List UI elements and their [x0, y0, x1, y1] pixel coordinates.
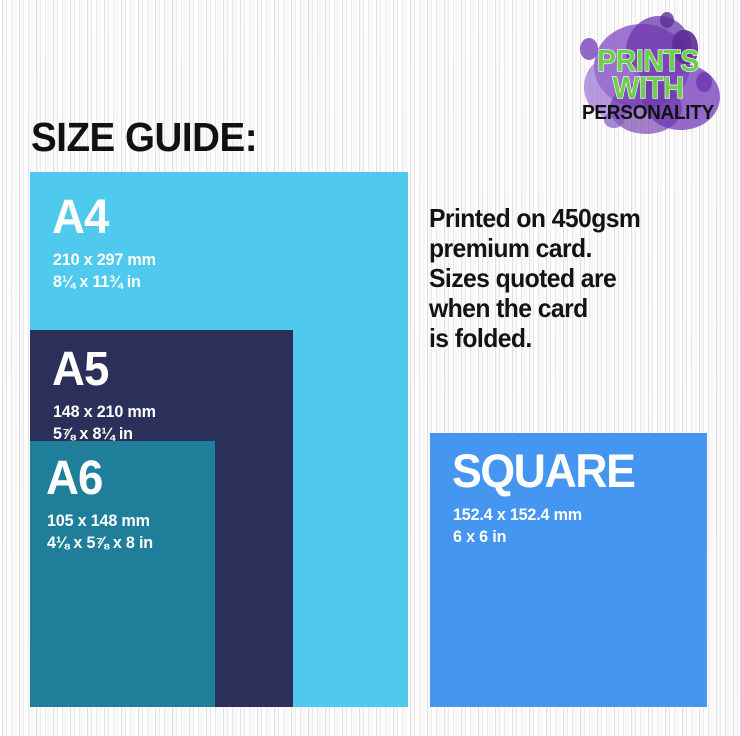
- size-card-a6-mm: 105 x 148 mm: [47, 510, 150, 532]
- size-card-a4-name: A4: [52, 194, 108, 242]
- printing-note: Printed on 450gsm premium card. Sizes qu…: [429, 203, 714, 353]
- size-card-a6: A6 105 x 148 mm 4⅛ x 5⅞ x 8 in: [30, 441, 215, 707]
- brand-logo-line-2: WITH: [574, 73, 721, 102]
- printing-note-line-2: premium card.: [429, 233, 714, 263]
- printing-note-line-3: Sizes quoted are: [429, 263, 714, 293]
- size-card-a5-name: A5: [52, 346, 108, 394]
- size-card-a6-inches: 4⅛ x 5⅞ x 8 in: [47, 532, 153, 554]
- size-card-square-mm: 152.4 x 152.4 mm: [453, 504, 582, 526]
- size-card-a4-inches: 8¼ x 11¾ in: [53, 271, 141, 293]
- size-card-square-inches: 6 x 6 in: [453, 526, 506, 548]
- size-guide-poster: SIZE GUIDE: GREETINGS CARDS PRINTS WITH …: [0, 0, 740, 736]
- brand-logo-line-3: PERSONALITY: [572, 103, 724, 124]
- printing-note-line-4: when the card: [429, 293, 714, 323]
- page-title-line-1: SIZE GUIDE:: [31, 114, 473, 160]
- size-card-square-name: SQUARE: [452, 447, 634, 494]
- size-card-a5-mm: 148 x 210 mm: [53, 401, 156, 423]
- size-card-a4-mm: 210 x 297 mm: [53, 249, 156, 271]
- size-card-a6-name: A6: [46, 455, 102, 503]
- printing-note-line-5: is folded.: [429, 323, 714, 353]
- brand-logo-text: PRINTS WITH PERSONALITY: [568, 8, 728, 136]
- brand-logo: PRINTS WITH PERSONALITY: [568, 8, 728, 136]
- size-card-square: SQUARE 152.4 x 152.4 mm 6 x 6 in: [430, 433, 707, 707]
- printing-note-line-1: Printed on 450gsm: [429, 203, 714, 233]
